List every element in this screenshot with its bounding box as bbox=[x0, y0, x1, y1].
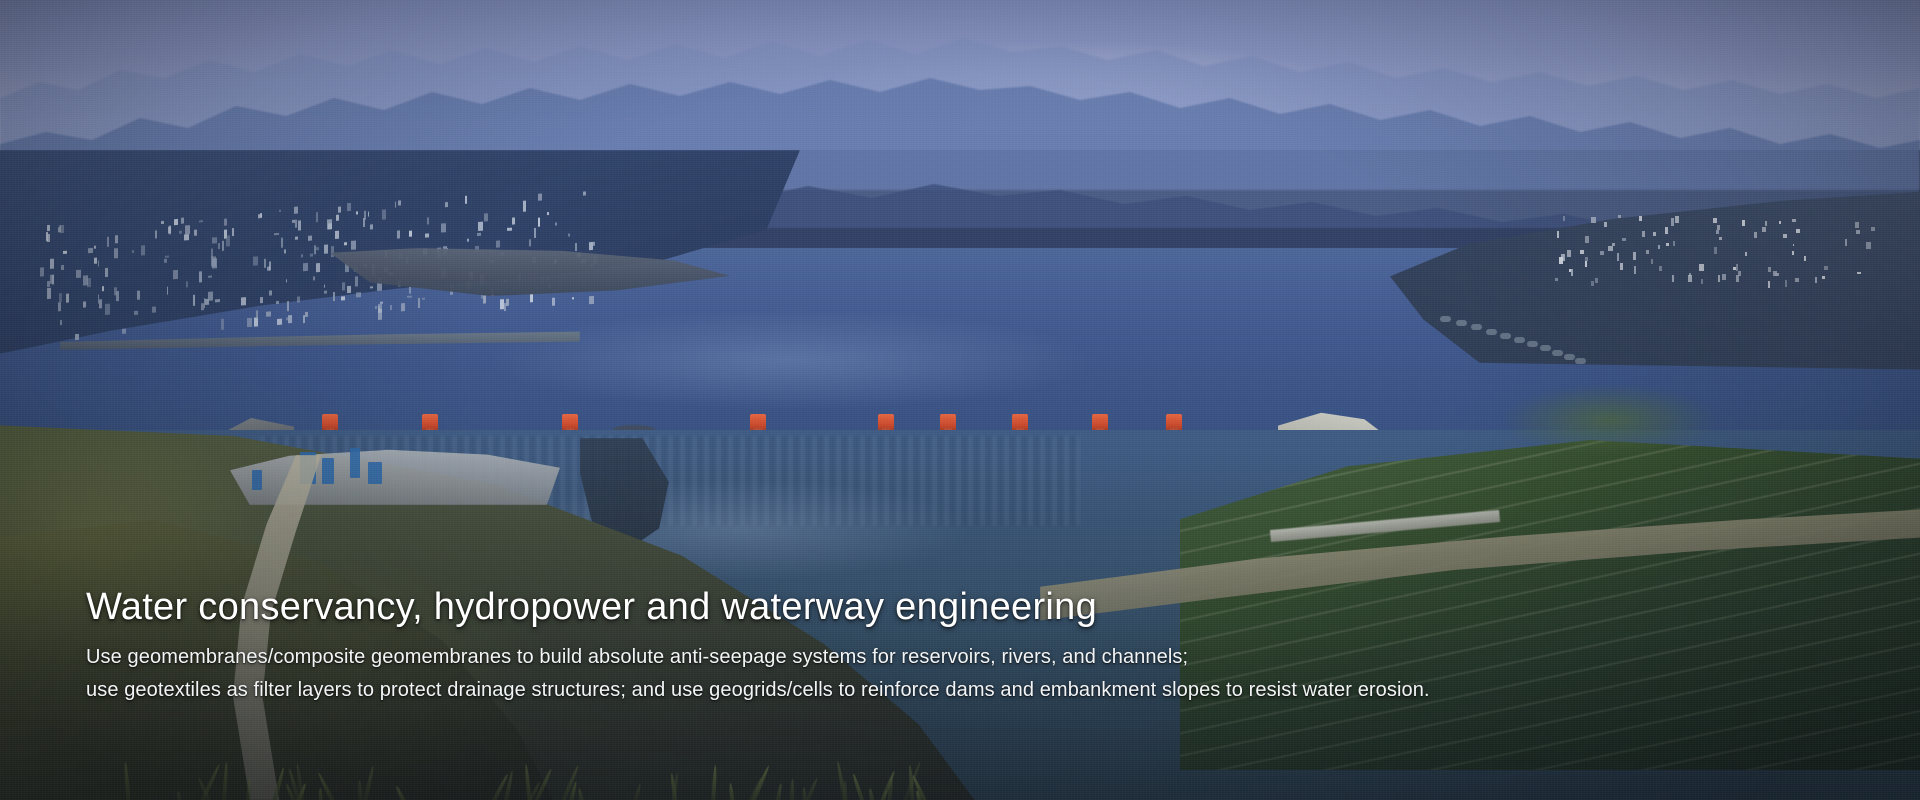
silo bbox=[368, 462, 382, 484]
grass-blade bbox=[362, 766, 375, 800]
log-boom bbox=[1456, 320, 1467, 326]
hero-title: Water conservancy, hydropower and waterw… bbox=[86, 584, 1726, 630]
hero-description: Use geomembranes/composite geomembranes … bbox=[86, 641, 1726, 706]
right-bank-vegetation bbox=[1460, 370, 1760, 470]
hero-description-line-2: use geotextiles as filter layers to prot… bbox=[86, 674, 1726, 706]
silo bbox=[252, 470, 262, 490]
log-boom bbox=[1552, 350, 1563, 356]
foreground-grass bbox=[120, 746, 940, 800]
grass-blade bbox=[775, 783, 783, 800]
hero-caption: Water conservancy, hydropower and waterw… bbox=[86, 584, 1726, 706]
silo bbox=[350, 448, 360, 478]
grass-blade bbox=[271, 767, 285, 800]
hero-banner: Water conservancy, hydropower and waterw… bbox=[0, 0, 1920, 800]
right-bank-settlement bbox=[1550, 215, 1880, 285]
log-boom bbox=[1575, 358, 1586, 364]
grass-blade bbox=[868, 788, 875, 800]
grass-blade bbox=[790, 779, 794, 800]
log-boom bbox=[1486, 329, 1497, 335]
log-boom bbox=[1540, 345, 1551, 351]
grass-blade bbox=[357, 780, 363, 800]
grass-blade bbox=[577, 788, 585, 800]
log-boom bbox=[1440, 316, 1451, 322]
grass-blade bbox=[222, 762, 228, 800]
log-boom bbox=[1471, 324, 1482, 330]
log-boom bbox=[1514, 337, 1525, 343]
grass-blade bbox=[246, 778, 252, 800]
grass-blade bbox=[729, 783, 736, 800]
grass-blade bbox=[801, 787, 806, 800]
grass-blade bbox=[176, 791, 182, 800]
water-sheen bbox=[380, 300, 1200, 420]
grass-blade bbox=[319, 788, 324, 800]
silo bbox=[322, 458, 334, 484]
grass-blade bbox=[124, 762, 132, 800]
grass-blade bbox=[632, 783, 642, 800]
grass-blade bbox=[852, 773, 866, 800]
log-boom bbox=[1527, 341, 1538, 347]
log-boom bbox=[1564, 354, 1575, 360]
grass-blade bbox=[711, 765, 717, 800]
grass-blade bbox=[394, 785, 407, 800]
log-boom bbox=[1500, 333, 1511, 339]
hero-description-line-1: Use geomembranes/composite geomembranes … bbox=[86, 641, 1726, 673]
